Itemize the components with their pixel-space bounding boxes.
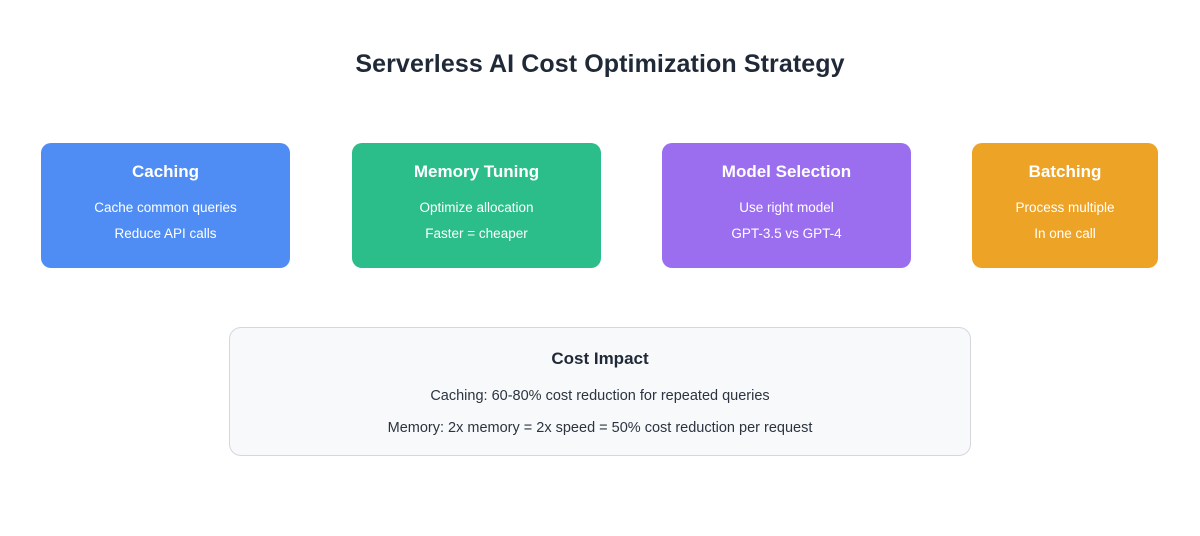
strategy-card-memory-tuning[interactable]: Memory Tuning Optimize allocation Faster… <box>352 143 601 268</box>
strategy-card-model-selection[interactable]: Model Selection Use right model GPT-3.5 … <box>662 143 911 268</box>
strategy-card-line-1: Cache common queries <box>94 199 237 217</box>
strategy-card-details: Optimize allocation Faster = cheaper <box>419 199 533 243</box>
diagram-canvas: Serverless AI Cost Optimization Strategy… <box>0 0 1200 536</box>
cost-impact-title: Cost Impact <box>551 348 648 370</box>
strategy-card-details: Process multiple In one call <box>1015 199 1114 243</box>
strategy-card-line-1: Process multiple <box>1015 199 1114 217</box>
strategy-card-title: Memory Tuning <box>414 161 539 183</box>
strategy-card-line-1: Optimize allocation <box>419 199 533 217</box>
strategy-card-line-1: Use right model <box>739 199 834 217</box>
cost-impact-line-2: Memory: 2x memory = 2x speed = 50% cost … <box>388 419 813 438</box>
strategy-card-line-2: In one call <box>1034 225 1096 243</box>
strategy-card-details: Use right model GPT-3.5 vs GPT-4 <box>731 199 841 243</box>
strategy-card-line-2: Reduce API calls <box>114 225 216 243</box>
page-title: Serverless AI Cost Optimization Strategy <box>0 48 1200 80</box>
cost-impact-line-1: Caching: 60-80% cost reduction for repea… <box>430 387 769 406</box>
cost-impact-details: Caching: 60-80% cost reduction for repea… <box>388 387 813 438</box>
strategy-card-caching[interactable]: Caching Cache common queries Reduce API … <box>41 143 290 268</box>
strategy-card-title: Batching <box>1029 161 1102 183</box>
strategy-card-batching[interactable]: Batching Process multiple In one call <box>972 143 1158 268</box>
strategy-card-line-2: Faster = cheaper <box>425 225 527 243</box>
strategy-card-title: Model Selection <box>722 161 851 183</box>
cost-impact-panel: Cost Impact Caching: 60-80% cost reducti… <box>229 327 971 456</box>
strategy-card-line-2: GPT-3.5 vs GPT-4 <box>731 225 841 243</box>
strategy-card-title: Caching <box>132 161 199 183</box>
strategy-card-details: Cache common queries Reduce API calls <box>94 199 237 243</box>
